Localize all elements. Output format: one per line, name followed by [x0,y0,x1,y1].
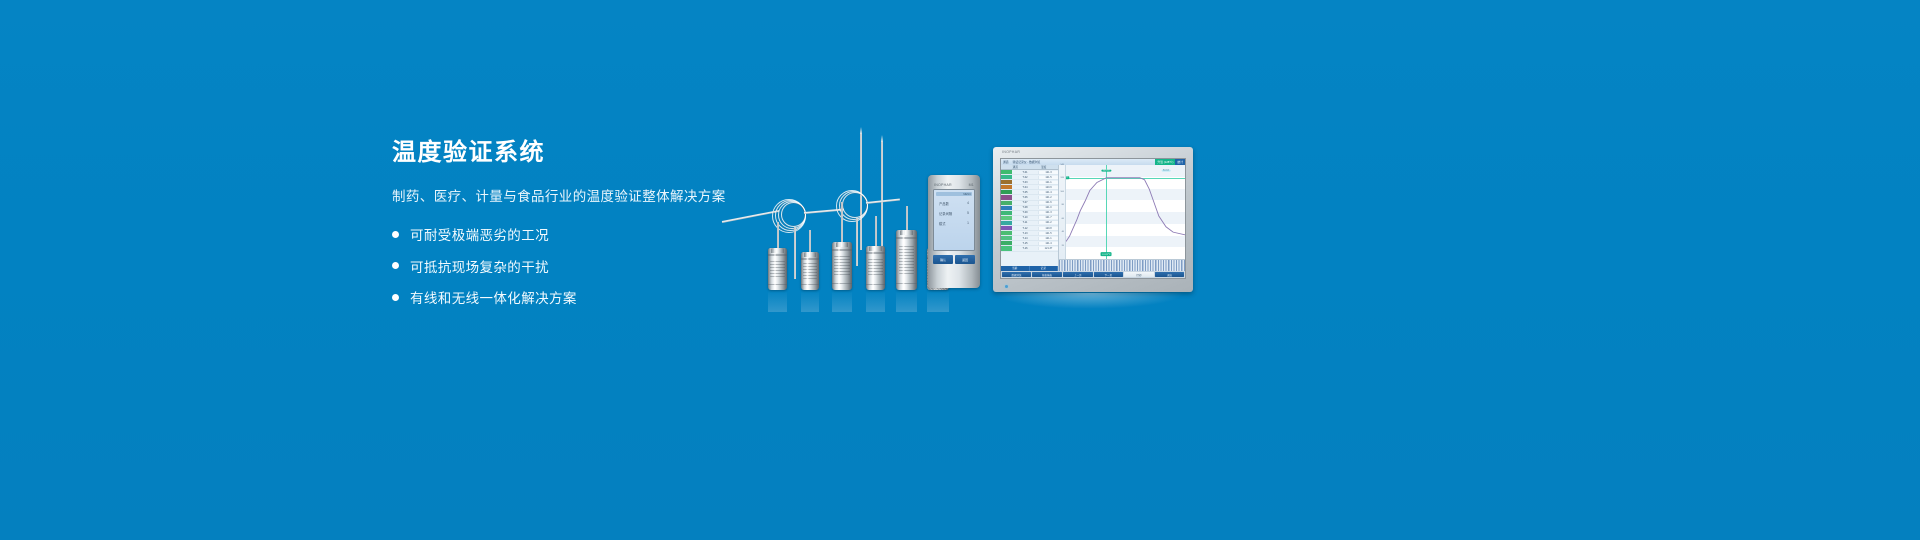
channel-value: 121.1 [1038,181,1058,184]
channel-color-swatch [1001,195,1012,199]
plot-area: D A-start B-end F-121℃ [1066,165,1185,259]
feature-label: 可抵抗现场复杂的干扰 [410,256,549,276]
data-logger-cylinder [832,242,852,290]
product-photo-group: INOPHAR M1 MENU 产品数 4 记录间隔 5 模式 1 [700,120,1260,320]
channel-value: 121.2 [1038,196,1058,199]
software-window: 通道 验证记录仪 - 数据浏览 升温 (128℃) 统计 通道 温度 T-011… [1000,158,1186,279]
readout-value: 1 [967,221,969,226]
channel-name: T-13 [1012,232,1038,235]
axis-tick-label: 120 [1060,177,1064,179]
channel-color-swatch [1001,236,1012,240]
channel-color-swatch [1001,241,1012,245]
channel-color-swatch [1001,211,1012,215]
channel-name: T-11 [1012,221,1038,224]
channel-color-swatch [1001,190,1012,194]
readout-value: 5 [967,211,969,216]
y-axis: 14012010080604020 [1059,165,1066,259]
toolbar-button[interactable]: 报表输出 [1032,272,1062,278]
list-item: 产品数 4 [939,201,969,206]
channel-value: 121.5 [1038,232,1058,235]
data-logger-cylinder [801,252,819,290]
handheld-brand: INOPHAR [934,183,952,187]
channel-value: 121.5 [1038,176,1058,179]
channel-color-swatch [1001,201,1012,205]
channel-value: 121.1 [1038,237,1058,240]
channel-value: 121.3 [1038,171,1058,174]
channel-name: T-07 [1012,201,1038,204]
channel-value: 120.9 [1038,186,1058,189]
channel-color-swatch [1001,175,1012,179]
toolbar-button[interactable]: 退出 [1155,272,1185,278]
coiled-probe-icon [818,188,908,232]
axis-tick-label: 100 [1060,191,1064,193]
channel-color-swatch [1001,170,1012,174]
list-item: 记录间隔 5 [939,211,969,216]
channel-value: 121.4 [1038,242,1058,245]
handheld-screen: MENU 产品数 4 记录间隔 5 模式 1 [933,189,975,251]
channel-row-list: T-01121.3T-02121.5T-03121.1T-04120.9T-05… [1001,170,1058,266]
channel-name: T-04 [1012,186,1038,189]
axis-tick-label: 60 [1062,218,1064,220]
data-logger-cylinder [896,230,917,290]
axis-tick-label: 140 [1060,164,1064,166]
channel-table: 通道 温度 T-01121.3T-02121.5T-03121.1T-04120… [1001,165,1059,271]
monitor-brand: INOPHAR [1002,150,1020,154]
channel-name: T-10 [1012,216,1038,219]
hero-banner: 温度验证系统 制药、医疗、计量与食品行业的温度验证整体解决方案 可耐受极端恶劣的… [0,0,1920,540]
handheld-model: M1 [969,183,974,187]
channel-color-swatch [1001,180,1012,184]
readout-label: 记录间隔 [939,211,952,216]
toolbar-button[interactable]: 下一页 [1094,272,1124,278]
feature-label: 有线和无线一体化解决方案 [410,287,577,307]
channel-value: 121.4 [1038,191,1058,194]
app-bottom-toolbar: 数据浏览报表输出上一页下一页打印退出 [1001,271,1185,278]
channel-value: 121.37 [1038,247,1058,250]
channel-name: T-01 [1012,171,1038,174]
channel-name: T-12 [1012,227,1038,230]
channel-name: T-16 [1012,247,1038,250]
list-item: 模式 1 [939,221,969,226]
axis-tick-label: 80 [1062,204,1064,206]
handheld-reader-device[interactable]: INOPHAR M1 MENU 产品数 4 记录间隔 5 模式 1 [928,175,980,288]
handheld-back-button[interactable]: 返回 [955,255,975,264]
channel-value: 120.8 [1038,227,1058,230]
channel-name: T-15 [1012,242,1038,245]
x-axis [1059,259,1185,271]
power-led-icon [1005,285,1008,288]
table-row[interactable]: T-16121.37 [1001,246,1058,251]
channel-color-swatch [1001,216,1012,220]
channel-name: T-09 [1012,211,1038,214]
column-header-temp: 温度 [1030,165,1059,169]
channel-color-swatch [1001,185,1012,189]
channel-name: T-08 [1012,206,1038,209]
bullet-dot-icon [392,231,399,238]
column-header-channel: 通道 [1001,165,1030,169]
chart-panel: 14012010080604020 D A-start B-end [1059,165,1185,271]
bullet-dot-icon [392,262,399,269]
toolbar-button[interactable]: 打印 [1124,272,1154,278]
channel-name: T-02 [1012,176,1038,179]
channel-value: 121.0 [1038,206,1058,209]
channel-name: T-14 [1012,237,1038,240]
channel-color-swatch [1001,221,1012,225]
channel-name: T-05 [1012,191,1038,194]
app-body: 通道 温度 T-01121.3T-02121.5T-03121.1T-04120… [1001,165,1185,271]
channel-color-swatch [1001,206,1012,210]
channel-name: T-06 [1012,196,1038,199]
axis-tick-label: 20 [1062,245,1064,247]
temperature-curve [1066,165,1185,259]
handheld-confirm-button[interactable]: 确认 [933,255,953,264]
channel-color-swatch [1001,226,1012,230]
data-logger-cylinder [866,246,885,290]
handheld-keypad: 确认 返回 [933,255,975,264]
channel-color-swatch [1001,231,1012,235]
toolbar-button[interactable]: 数据浏览 [1002,272,1032,278]
channel-value: 121.2 [1038,221,1058,224]
temperature-chart: 14012010080604020 D A-start B-end [1059,165,1185,259]
readout-label: 产品数 [939,201,949,206]
channel-value: 121.3 [1038,211,1058,214]
channel-value: 121.6 [1038,201,1058,204]
feature-label: 可耐受极端恶劣的工况 [410,224,549,244]
channel-name: T-03 [1012,181,1038,184]
bullet-dot-icon [392,294,399,301]
handheld-readout-list: 产品数 4 记录间隔 5 模式 1 [936,196,972,248]
toolbar-button[interactable]: 上一页 [1063,272,1093,278]
channel-color-swatch [1001,246,1012,250]
readout-label: 模式 [939,221,946,226]
channel-value: 121.7 [1038,216,1058,219]
readout-value: 4 [967,201,969,206]
axis-tick-label: 40 [1062,231,1064,233]
monitor-reflection [993,293,1185,309]
data-logger-cylinder [768,248,787,290]
monitor-display: INOPHAR 通道 验证记录仪 - 数据浏览 升温 (128℃) 统计 通道 … [993,147,1193,292]
